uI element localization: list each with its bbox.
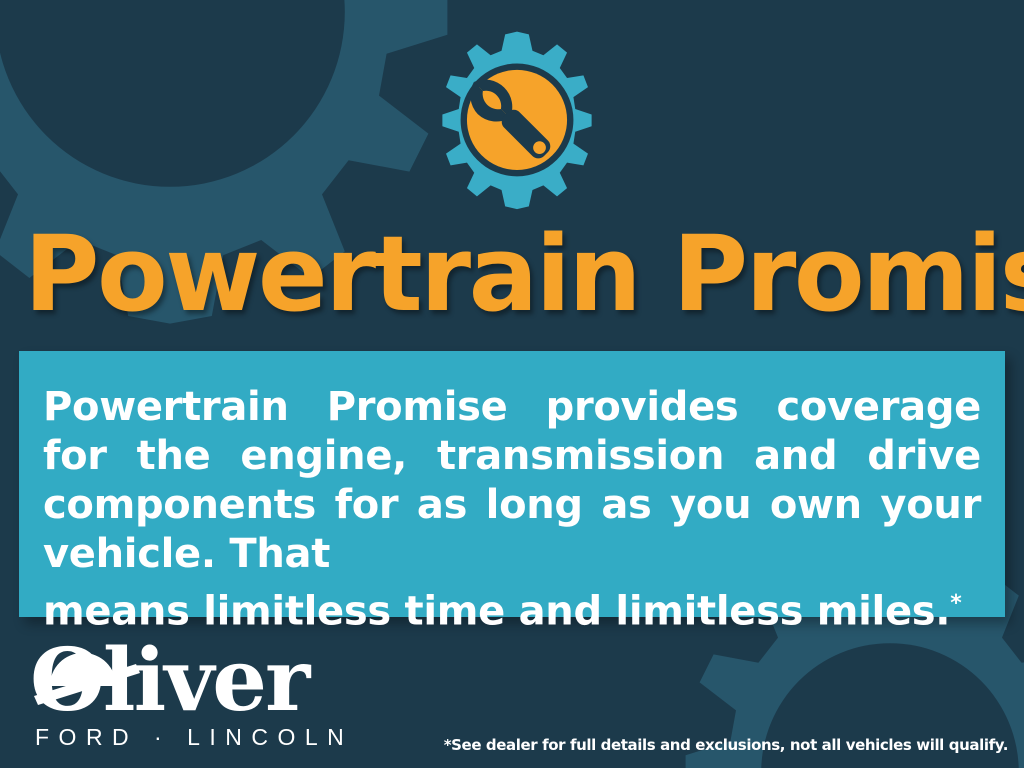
body-line-4: means limitless time and limitless miles… <box>43 588 950 634</box>
body-panel: Powertrain Promise provides coverage for… <box>19 351 1005 617</box>
logo-subtitle: FORD · LINCOLN <box>35 726 353 749</box>
dealer-logo: Oliver FORD · LINCOLN <box>30 638 330 758</box>
powertrain-promise-poster: Powertrain Promise Powertrain Promise pr… <box>0 0 1024 768</box>
asterisk-marker: * <box>950 591 961 616</box>
gear-wrench-icon <box>426 28 608 210</box>
bowler-hat-icon <box>32 640 162 715</box>
body-line-4-wrap: means limitless time and limitless miles… <box>43 579 981 636</box>
page-title: Powertrain Promise <box>24 222 998 326</box>
disclaimer-text: *See dealer for full details and exclusi… <box>444 736 1008 754</box>
